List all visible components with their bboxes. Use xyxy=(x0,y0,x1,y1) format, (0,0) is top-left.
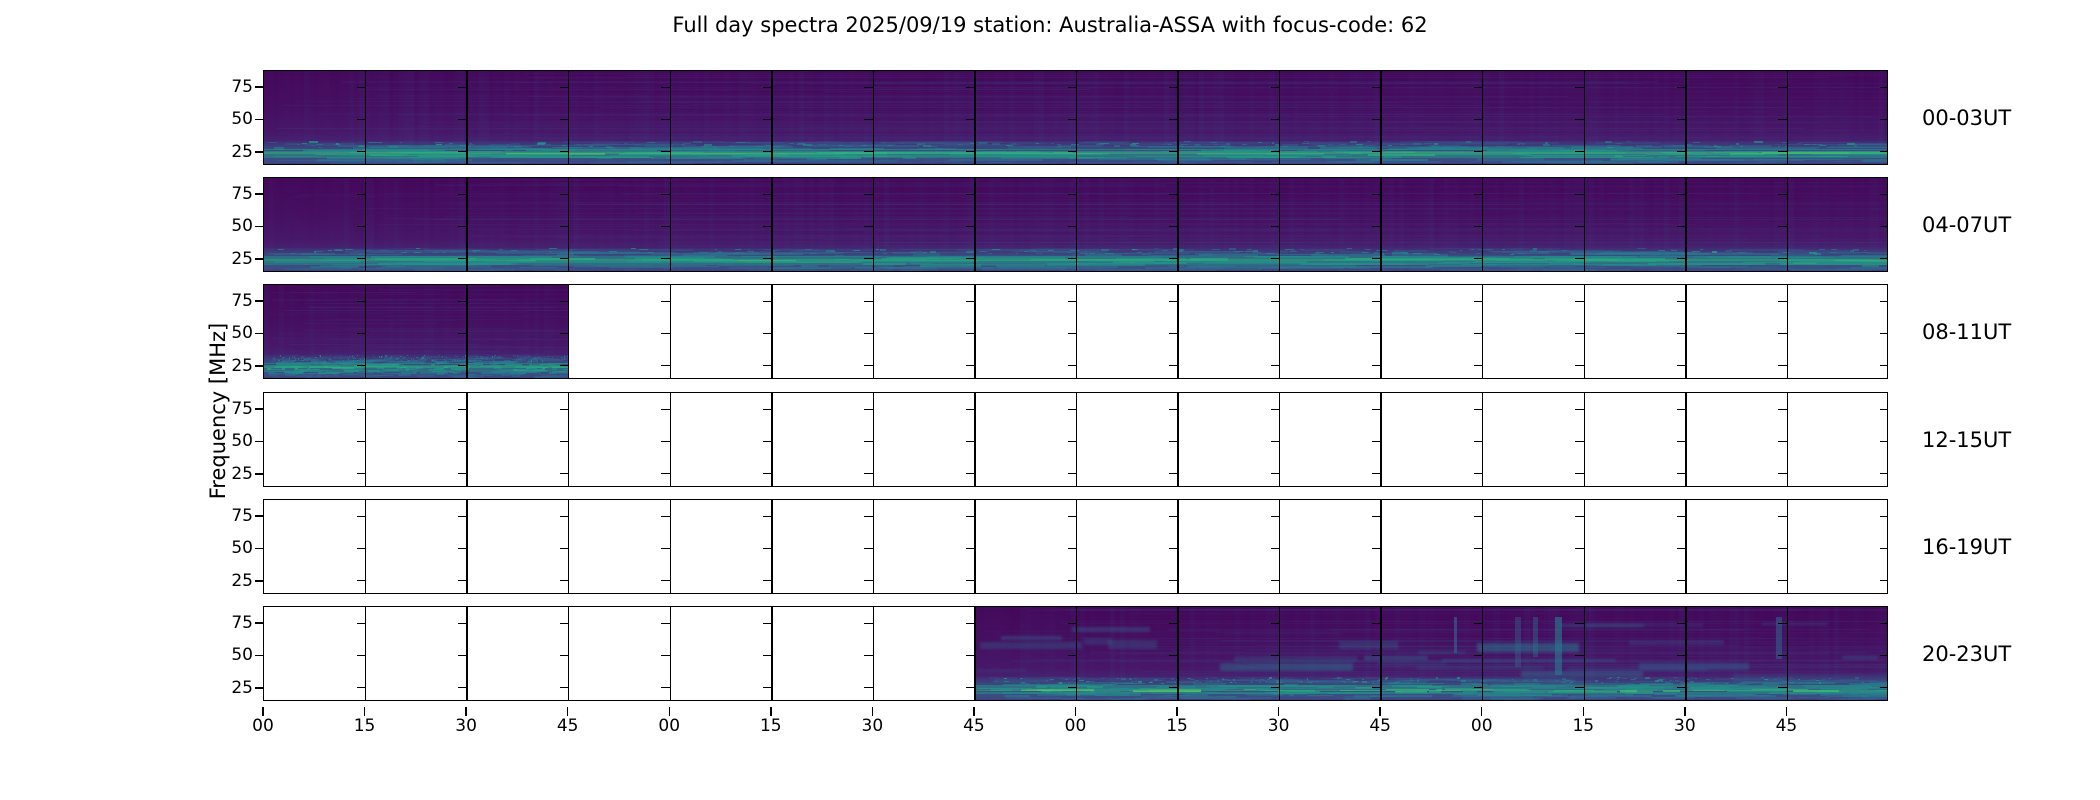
x-tick-label: 45 xyxy=(1776,716,1798,736)
y-tick-mark xyxy=(661,258,670,259)
y-tick-mark xyxy=(966,87,975,88)
y-tick-mark xyxy=(1880,301,1888,302)
y-tick-mark xyxy=(1474,333,1483,334)
y-tick-label: 25 xyxy=(231,142,253,162)
low-frequency-emission-band xyxy=(264,355,569,377)
y-tick-mark xyxy=(864,151,873,152)
figure-title: Full day spectra 2025/09/19 station: Aus… xyxy=(0,13,2100,37)
y-tick-mark xyxy=(763,687,772,688)
y-tick-mark xyxy=(1169,441,1178,442)
row-label: 00-03UT xyxy=(1922,106,2011,130)
y-tick-mark xyxy=(1778,580,1787,581)
y-tick-mark xyxy=(1169,516,1178,517)
y-tick-mark xyxy=(1575,151,1584,152)
y-tick-mark xyxy=(661,441,670,442)
y-tick-mark xyxy=(1778,473,1787,474)
x-tick-mark xyxy=(1481,707,1482,716)
y-tick-mark xyxy=(763,87,772,88)
y-tick-mark xyxy=(966,226,975,227)
x-tick-label: 30 xyxy=(1268,716,1290,736)
y-tick-mark xyxy=(1778,655,1787,656)
y-tick-mark xyxy=(560,655,569,656)
y-tick-mark xyxy=(864,580,873,581)
x-tick-mark xyxy=(567,707,568,716)
y-tick-mark xyxy=(458,194,467,195)
y-tick-mark xyxy=(1677,226,1686,227)
y-tick-mark xyxy=(1068,194,1077,195)
y-tick-mark xyxy=(966,151,975,152)
y-tick-mark xyxy=(560,151,569,152)
y-tick-mark xyxy=(458,409,467,410)
y-tick-mark xyxy=(1474,194,1483,195)
y-tick-mark xyxy=(357,441,366,442)
y-tick-mark xyxy=(1778,548,1787,549)
y-tick-mark xyxy=(864,623,873,624)
y-tick-mark xyxy=(763,119,772,120)
y-tick-mark xyxy=(1677,87,1686,88)
y-tick-mark xyxy=(1271,623,1280,624)
y-tick-mark xyxy=(357,409,366,410)
y-tick-mark xyxy=(1575,655,1584,656)
y-tick-mark xyxy=(458,623,467,624)
x-tick-label: 30 xyxy=(862,716,884,736)
y-tick-mark xyxy=(1474,87,1483,88)
y-tick-mark xyxy=(1068,258,1077,259)
y-tick-mark xyxy=(1372,301,1381,302)
y-tick-mark xyxy=(1575,301,1584,302)
row-label: 16-19UT xyxy=(1922,535,2011,559)
y-tick-mark xyxy=(1169,548,1178,549)
y-tick-mark-outer xyxy=(255,300,263,301)
y-tick-mark xyxy=(864,301,873,302)
y-tick-mark xyxy=(661,226,670,227)
y-tick-mark xyxy=(1169,687,1178,688)
y-tick-mark-outer xyxy=(255,580,263,581)
y-tick-mark xyxy=(1474,151,1483,152)
y-tick-mark xyxy=(864,365,873,366)
y-tick-mark xyxy=(357,365,366,366)
y-tick-label: 25 xyxy=(231,356,253,376)
spectrogram-data xyxy=(264,285,569,378)
y-tick-mark xyxy=(1372,258,1381,259)
y-tick-mark xyxy=(966,119,975,120)
y-tick-mark xyxy=(1575,119,1584,120)
y-tick-mark xyxy=(1169,87,1178,88)
y-tick-mark xyxy=(1474,580,1483,581)
y-tick-mark xyxy=(1677,516,1686,517)
y-tick-mark xyxy=(1880,548,1888,549)
panel-frame xyxy=(263,284,1888,379)
y-tick-mark xyxy=(763,580,772,581)
y-tick-mark xyxy=(966,409,975,410)
y-tick-mark xyxy=(1474,548,1483,549)
y-tick-mark xyxy=(1372,333,1381,334)
x-tick-label: 00 xyxy=(1065,716,1087,736)
y-tick-mark xyxy=(1677,194,1686,195)
panel-row-16-19ut: 75502516-19UT xyxy=(263,499,1888,594)
y-tick-mark xyxy=(458,301,467,302)
y-tick-mark xyxy=(1372,473,1381,474)
x-tick-mark xyxy=(1583,707,1584,716)
y-tick-mark xyxy=(661,409,670,410)
y-tick-mark xyxy=(560,473,569,474)
panel-frame xyxy=(263,70,1888,165)
y-tick-mark-outer xyxy=(255,655,263,656)
y-tick-mark xyxy=(1271,473,1280,474)
y-tick-mark xyxy=(1169,623,1178,624)
y-tick-mark xyxy=(1372,119,1381,120)
y-tick-mark-outer xyxy=(255,548,263,549)
y-tick-label: 50 xyxy=(231,109,253,129)
y-tick-mark xyxy=(1575,365,1584,366)
x-tick-mark xyxy=(669,707,670,716)
y-tick-mark xyxy=(357,516,366,517)
y-tick-mark xyxy=(1575,580,1584,581)
y-tick-mark xyxy=(763,473,772,474)
row-label: 12-15UT xyxy=(1922,428,2011,452)
y-tick-mark xyxy=(966,258,975,259)
y-tick-mark xyxy=(1372,365,1381,366)
y-tick-mark xyxy=(1575,548,1584,549)
y-tick-mark xyxy=(1271,548,1280,549)
spectrogram-figure: Full day spectra 2025/09/19 station: Aus… xyxy=(0,0,2100,800)
y-tick-mark xyxy=(661,548,670,549)
y-tick-mark xyxy=(1271,365,1280,366)
y-tick-mark xyxy=(357,301,366,302)
y-tick-mark xyxy=(864,687,873,688)
y-tick-mark xyxy=(1677,151,1686,152)
y-tick-mark xyxy=(357,194,366,195)
y-tick-mark xyxy=(763,333,772,334)
x-tick-mark xyxy=(1278,707,1279,716)
y-tick-mark xyxy=(1372,226,1381,227)
y-tick-mark xyxy=(763,516,772,517)
y-tick-mark xyxy=(763,409,772,410)
y-tick-mark xyxy=(560,516,569,517)
y-tick-mark xyxy=(1575,516,1584,517)
y-tick-mark xyxy=(1474,441,1483,442)
y-tick-mark xyxy=(458,516,467,517)
y-tick-mark xyxy=(1372,655,1381,656)
y-tick-mark xyxy=(1677,623,1686,624)
y-tick-mark-outer xyxy=(255,193,263,194)
y-tick-mark xyxy=(1271,194,1280,195)
x-tick-label: 30 xyxy=(1674,716,1696,736)
x-tick-mark xyxy=(262,707,263,716)
y-tick-mark xyxy=(763,365,772,366)
y-tick-mark xyxy=(661,687,670,688)
y-tick-mark xyxy=(1271,333,1280,334)
y-tick-mark xyxy=(661,151,670,152)
x-tick-mark xyxy=(364,707,365,716)
y-tick-mark xyxy=(1169,301,1178,302)
panel-frame xyxy=(263,392,1888,487)
y-tick-mark xyxy=(1575,226,1584,227)
y-tick-mark xyxy=(1372,87,1381,88)
y-tick-mark xyxy=(458,258,467,259)
y-tick-mark xyxy=(1677,473,1686,474)
x-tick-mark xyxy=(1684,707,1685,716)
y-tick-mark xyxy=(1677,333,1686,334)
y-tick-mark xyxy=(1677,441,1686,442)
y-tick-mark xyxy=(1474,623,1483,624)
y-tick-mark xyxy=(1068,151,1077,152)
y-tick-mark xyxy=(1068,119,1077,120)
x-axis: 00153045001530450015304500153045 xyxy=(263,716,1888,756)
y-tick-label: 25 xyxy=(231,249,253,269)
y-tick-mark xyxy=(1474,409,1483,410)
y-tick-mark xyxy=(1271,580,1280,581)
spectrogram-image xyxy=(264,285,569,378)
y-tick-mark xyxy=(864,226,873,227)
y-tick-mark xyxy=(763,194,772,195)
y-tick-label: 25 xyxy=(231,464,253,484)
low-frequency-emission-band xyxy=(975,677,1888,699)
y-tick-mark xyxy=(458,580,467,581)
y-tick-mark xyxy=(1474,365,1483,366)
x-tick-mark xyxy=(1075,707,1076,716)
y-tick-mark xyxy=(357,119,366,120)
x-tick-label: 45 xyxy=(963,716,985,736)
y-tick-mark xyxy=(864,441,873,442)
y-tick-mark xyxy=(560,226,569,227)
y-tick-mark xyxy=(458,333,467,334)
y-tick-mark xyxy=(1068,87,1077,88)
y-tick-label: 75 xyxy=(231,77,253,97)
y-tick-mark xyxy=(763,258,772,259)
y-tick-mark xyxy=(357,687,366,688)
x-tick-label: 15 xyxy=(1166,716,1188,736)
y-tick-mark xyxy=(1778,301,1787,302)
y-tick-mark xyxy=(1575,87,1584,88)
y-tick-mark xyxy=(560,441,569,442)
y-tick-mark xyxy=(1068,580,1077,581)
y-tick-mark xyxy=(1880,226,1888,227)
y-tick-mark-outer xyxy=(255,515,263,516)
y-tick-mark xyxy=(1372,580,1381,581)
y-tick-mark xyxy=(1677,580,1686,581)
y-tick-mark xyxy=(560,548,569,549)
panel-frame xyxy=(263,177,1888,272)
x-tick-mark xyxy=(973,707,974,716)
y-tick-mark xyxy=(560,87,569,88)
y-tick-label: 50 xyxy=(231,431,253,451)
y-tick-mark xyxy=(864,87,873,88)
y-tick-mark xyxy=(1880,151,1888,152)
y-tick-mark xyxy=(1880,258,1888,259)
y-tick-mark xyxy=(1068,473,1077,474)
x-tick-label: 00 xyxy=(1471,716,1493,736)
y-tick-label: 75 xyxy=(231,506,253,526)
y-tick-mark xyxy=(864,119,873,120)
y-tick-mark xyxy=(1271,301,1280,302)
y-tick-mark xyxy=(458,119,467,120)
y-tick-mark xyxy=(1068,623,1077,624)
spectrogram-data xyxy=(975,607,1888,700)
y-tick-mark xyxy=(1068,655,1077,656)
y-tick-mark xyxy=(1271,226,1280,227)
y-tick-mark xyxy=(1778,258,1787,259)
panel-row-04-07ut: 75502504-07UT xyxy=(263,177,1888,272)
y-tick-mark xyxy=(1575,194,1584,195)
y-tick-mark xyxy=(1880,333,1888,334)
y-tick-mark xyxy=(1372,194,1381,195)
y-tick-mark xyxy=(560,119,569,120)
y-tick-mark xyxy=(763,226,772,227)
y-tick-mark xyxy=(1677,119,1686,120)
y-tick-mark xyxy=(763,301,772,302)
y-tick-mark xyxy=(966,473,975,474)
y-tick-mark xyxy=(1271,516,1280,517)
y-tick-mark xyxy=(357,655,366,656)
y-tick-mark-outer xyxy=(255,86,263,87)
y-tick-mark xyxy=(864,409,873,410)
y-tick-mark xyxy=(661,301,670,302)
y-tick-mark xyxy=(1271,119,1280,120)
y-tick-mark xyxy=(458,226,467,227)
y-tick-mark xyxy=(1169,333,1178,334)
y-tick-mark-outer xyxy=(255,441,263,442)
y-tick-mark xyxy=(1778,119,1787,120)
y-tick-mark xyxy=(661,580,670,581)
y-tick-mark xyxy=(1880,687,1888,688)
y-tick-mark xyxy=(1169,655,1178,656)
y-tick-mark xyxy=(458,687,467,688)
y-tick-mark-outer xyxy=(255,473,263,474)
y-tick-mark-outer xyxy=(255,365,263,366)
y-axis-label: Frequency [MHz] xyxy=(203,131,233,691)
y-tick-mark xyxy=(763,548,772,549)
y-tick-mark xyxy=(966,333,975,334)
y-tick-mark xyxy=(1880,87,1888,88)
y-tick-mark xyxy=(357,548,366,549)
y-tick-mark xyxy=(661,87,670,88)
y-tick-mark xyxy=(357,87,366,88)
y-tick-mark xyxy=(661,119,670,120)
y-tick-mark xyxy=(966,623,975,624)
y-tick-mark xyxy=(1778,516,1787,517)
y-tick-mark xyxy=(458,365,467,366)
y-tick-mark xyxy=(1677,365,1686,366)
y-tick-label: 75 xyxy=(231,184,253,204)
y-tick-mark xyxy=(1068,365,1077,366)
y-tick-mark xyxy=(458,151,467,152)
y-tick-mark xyxy=(1169,194,1178,195)
y-tick-mark xyxy=(357,226,366,227)
x-tick-mark xyxy=(770,707,771,716)
y-tick-mark xyxy=(1880,580,1888,581)
y-tick-mark xyxy=(1271,687,1280,688)
x-tick-label: 00 xyxy=(252,716,274,736)
y-tick-mark xyxy=(1169,473,1178,474)
y-tick-mark xyxy=(966,301,975,302)
y-tick-mark xyxy=(1271,409,1280,410)
y-tick-mark xyxy=(763,151,772,152)
y-tick-mark xyxy=(966,194,975,195)
y-tick-mark xyxy=(661,333,670,334)
y-tick-mark xyxy=(1068,301,1077,302)
x-tick-mark xyxy=(1786,707,1787,716)
y-tick-mark xyxy=(1677,548,1686,549)
y-tick-mark xyxy=(1677,655,1686,656)
y-tick-mark xyxy=(1474,473,1483,474)
y-tick-mark xyxy=(1271,151,1280,152)
y-tick-mark xyxy=(1372,409,1381,410)
y-tick-mark xyxy=(1372,151,1381,152)
y-tick-label: 50 xyxy=(231,645,253,665)
y-tick-mark xyxy=(966,687,975,688)
y-tick-mark xyxy=(1575,623,1584,624)
y-tick-mark xyxy=(357,623,366,624)
y-tick-mark xyxy=(1169,365,1178,366)
y-tick-mark xyxy=(1575,441,1584,442)
y-tick-mark xyxy=(1778,409,1787,410)
y-tick-mark xyxy=(1169,409,1178,410)
y-tick-mark xyxy=(1372,623,1381,624)
y-tick-mark xyxy=(1575,687,1584,688)
y-tick-mark xyxy=(1068,333,1077,334)
y-tick-mark xyxy=(966,655,975,656)
y-tick-mark xyxy=(560,687,569,688)
panel-row-20-23ut: 75502520-23UT xyxy=(263,606,1888,701)
y-tick-mark xyxy=(966,516,975,517)
y-tick-label: 50 xyxy=(231,216,253,236)
panel-row-08-11ut: 75502508-11UT xyxy=(263,284,1888,379)
y-tick-mark xyxy=(1778,687,1787,688)
y-tick-mark xyxy=(1068,516,1077,517)
y-tick-mark xyxy=(1372,548,1381,549)
y-tick-mark xyxy=(1169,226,1178,227)
x-tick-label: 00 xyxy=(658,716,680,736)
y-tick-mark xyxy=(661,365,670,366)
y-tick-mark xyxy=(864,333,873,334)
y-tick-mark xyxy=(357,151,366,152)
y-tick-mark xyxy=(1778,623,1787,624)
spectrogram-image xyxy=(975,607,1888,700)
y-tick-mark xyxy=(1474,655,1483,656)
y-tick-mark xyxy=(1880,655,1888,656)
y-tick-mark xyxy=(661,194,670,195)
y-tick-mark xyxy=(357,473,366,474)
x-tick-label: 30 xyxy=(455,716,477,736)
y-tick-mark xyxy=(1575,409,1584,410)
y-tick-mark xyxy=(1169,151,1178,152)
y-tick-mark xyxy=(661,473,670,474)
y-tick-mark xyxy=(458,441,467,442)
y-tick-mark xyxy=(966,441,975,442)
y-tick-mark xyxy=(966,365,975,366)
y-tick-mark xyxy=(1372,516,1381,517)
y-tick-label: 25 xyxy=(231,678,253,698)
y-tick-mark xyxy=(560,580,569,581)
y-tick-mark-outer xyxy=(255,226,263,227)
y-tick-mark xyxy=(1271,258,1280,259)
y-tick-mark-outer xyxy=(255,408,263,409)
y-tick-mark xyxy=(1068,409,1077,410)
y-tick-mark xyxy=(1677,409,1686,410)
y-tick-mark xyxy=(1169,258,1178,259)
y-tick-mark-outer xyxy=(255,687,263,688)
y-tick-mark xyxy=(1880,119,1888,120)
panel-row-00-03ut: 75502500-03UT xyxy=(263,70,1888,165)
row-label: 08-11UT xyxy=(1922,320,2011,344)
y-tick-mark xyxy=(1778,365,1787,366)
y-tick-mark xyxy=(560,194,569,195)
y-tick-mark xyxy=(1271,655,1280,656)
y-tick-mark xyxy=(1474,687,1483,688)
y-tick-mark xyxy=(864,548,873,549)
y-tick-mark xyxy=(1068,441,1077,442)
